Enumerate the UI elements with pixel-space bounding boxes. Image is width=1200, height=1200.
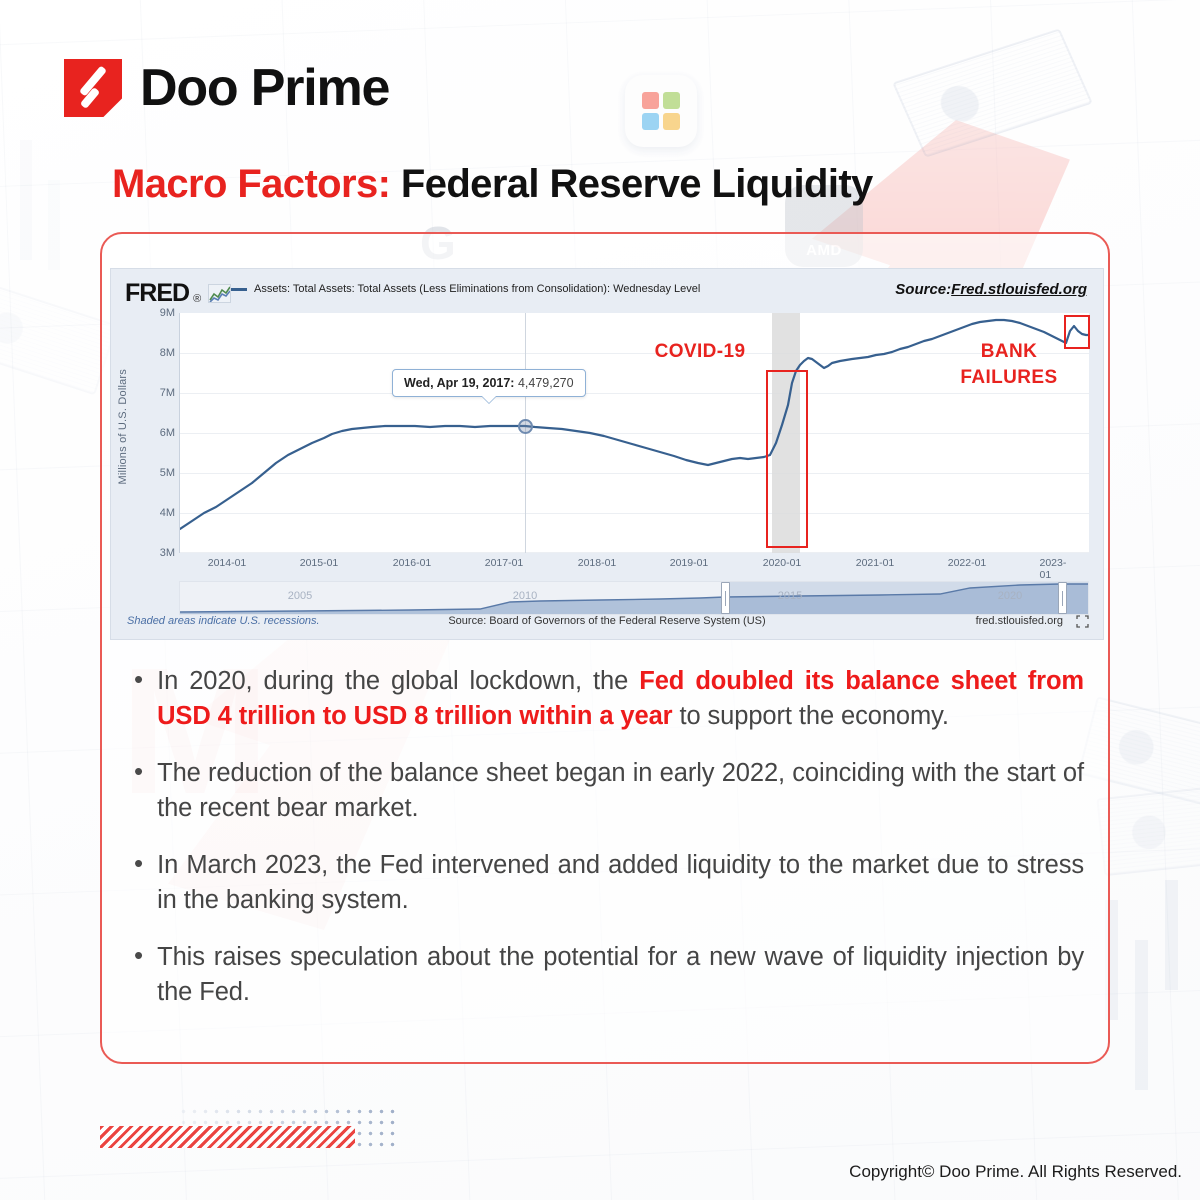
minimap-year-label: 2010 (513, 590, 537, 602)
page-title-accent: Macro Factors: (112, 162, 390, 206)
chart-legend: Assets: Total Assets: Total Assets (Less… (231, 283, 700, 295)
page-title-rest: Federal Reserve Liquidity (390, 162, 872, 206)
microsoft-logo-watermark (625, 75, 697, 147)
y-tick-label: 3M (160, 547, 175, 559)
bullet-marker: • (134, 848, 143, 918)
candlestick-watermark (1135, 940, 1148, 1090)
list-item: • In March 2023, the Fed intervened and … (134, 848, 1084, 918)
fred-chart-header: FRED ® Assets: Total Assets: Total Asset… (111, 269, 1103, 309)
brand-name: Doo Prime (140, 58, 389, 118)
expand-icon[interactable] (1076, 615, 1089, 628)
bullet-marker: • (134, 756, 143, 826)
annotation-bank-failures: BANK FAILURES (950, 339, 1068, 391)
list-item: • The reduction of the balance sheet beg… (134, 756, 1084, 826)
legend-color-swatch (231, 288, 247, 291)
y-tick-label: 8M (160, 347, 175, 359)
source-attribution: Source:Fred.stlouisfed.org (895, 281, 1087, 298)
page-title: Macro Factors: Federal Reserve Liquidity (112, 162, 873, 207)
doo-prime-mark-icon (64, 59, 122, 117)
bullet-text-pre: In March 2023, the Fed intervened and ad… (157, 851, 1084, 914)
list-item: • In 2020, during the global lockdown, t… (134, 664, 1084, 734)
list-item: • This raises speculation about the pote… (134, 940, 1084, 1010)
bullet-text-pre: In 2020, during the global lockdown, the (157, 667, 639, 695)
bullet-text: The reduction of the balance sheet began… (157, 756, 1084, 826)
legend-series-label: Assets: Total Assets: Total Assets (Less… (254, 283, 700, 295)
minimap-left-handle[interactable] (721, 582, 730, 614)
annotation-bank-failures-line1: BANK (981, 341, 1038, 362)
content-card: FRED ® Assets: Total Assets: Total Asset… (100, 232, 1110, 1064)
minimap-year-label: 2005 (288, 590, 312, 602)
x-tick-label: 2020-01 (763, 557, 802, 569)
candlestick-watermark (1165, 880, 1178, 990)
x-tick-label: 2016-01 (393, 557, 432, 569)
x-tick-label: 2014-01 (208, 557, 247, 569)
candlestick-watermark (48, 180, 60, 270)
bullet-text-post: to support the economy. (673, 702, 949, 730)
minimap-year-label: 2020 (998, 590, 1022, 602)
fred-chart-footer: Shaded areas indicate U.S. recessions. S… (111, 613, 1103, 635)
x-tick-label: 2021-01 (856, 557, 895, 569)
brand-logo: Doo Prime (64, 58, 389, 118)
annotation-bank-failures-line2: FAILURES (960, 367, 1057, 388)
minimap-series (180, 582, 1089, 615)
y-axis-title: Millions of U.S. Dollars (117, 369, 129, 484)
fred-logo: FRED ® (125, 279, 231, 308)
fred-site-url[interactable]: fred.stlouisfed.org (976, 615, 1063, 627)
plot-area-wrapper: Millions of U.S. Dollars 9M 8M 7M 6M 5M … (111, 309, 1105, 587)
hover-data-point[interactable] (518, 419, 533, 434)
x-tick-label: 2015-01 (300, 557, 339, 569)
y-axis-ticks: 9M 8M 7M 6M 5M 4M 3M (131, 309, 175, 557)
x-tick-label: 2023-01 (1040, 557, 1073, 581)
bullet-marker: • (134, 940, 143, 1010)
source-link[interactable]: Fred.stlouisfed.org (951, 281, 1087, 298)
x-axis-ticks: 2014-01 2015-01 2016-01 2017-01 2018-01 … (179, 557, 1089, 579)
y-tick-label: 4M (160, 507, 175, 519)
covid-callout-box (766, 370, 808, 548)
fred-registered-mark: ® (193, 293, 201, 308)
x-tick-label: 2018-01 (578, 557, 617, 569)
chart-tooltip: Wed, Apr 19, 2017: 4,479,270 (392, 369, 586, 397)
x-tick-label: 2022-01 (948, 557, 987, 569)
x-tick-label: 2017-01 (485, 557, 524, 569)
bullet-text-pre: The reduction of the balance sheet began… (157, 759, 1084, 822)
minimap-right-handle[interactable] (1058, 582, 1067, 614)
y-tick-label: 5M (160, 467, 175, 479)
chart-range-minimap[interactable]: 2005 2010 2015 2020 (179, 581, 1089, 615)
x-tick-label: 2019-01 (670, 557, 709, 569)
minimap-year-label: 2015 (778, 590, 802, 602)
annotation-covid-19: COVID-19 (630, 341, 770, 363)
data-source-note: Source: Board of Governors of the Federa… (448, 615, 765, 627)
y-tick-label: 7M (160, 387, 175, 399)
recession-note: Shaded areas indicate U.S. recessions. (127, 615, 320, 627)
bullet-text: In 2020, during the global lockdown, the… (157, 664, 1084, 734)
bullet-text-pre: This raises speculation about the potent… (157, 943, 1084, 1006)
stripe-pattern-decoration (100, 1126, 355, 1148)
y-tick-label: 9M (160, 307, 175, 319)
bullet-list: • In 2020, during the global lockdown, t… (134, 664, 1084, 1032)
fred-chart-panel: FRED ® Assets: Total Assets: Total Asset… (110, 268, 1104, 640)
chart-plot-area[interactable]: COVID-19 BANK FAILURES Wed, Apr 19, 2017… (179, 313, 1089, 553)
fred-wordmark: FRED (125, 279, 189, 308)
tooltip-date: Wed, Apr 19, 2017: (404, 376, 514, 390)
sparkline-icon (208, 284, 231, 303)
tooltip-value: 4,479,270 (518, 376, 574, 390)
banknote-watermark (1096, 782, 1200, 876)
bullet-marker: • (134, 664, 143, 734)
copyright-text: Copyright© Doo Prime. All Rights Reserve… (849, 1162, 1182, 1182)
source-prefix: Source: (895, 281, 951, 298)
y-tick-label: 6M (160, 427, 175, 439)
bullet-text: This raises speculation about the potent… (157, 940, 1084, 1010)
bullet-text: In March 2023, the Fed intervened and ad… (157, 848, 1084, 918)
candlestick-watermark (20, 140, 32, 260)
